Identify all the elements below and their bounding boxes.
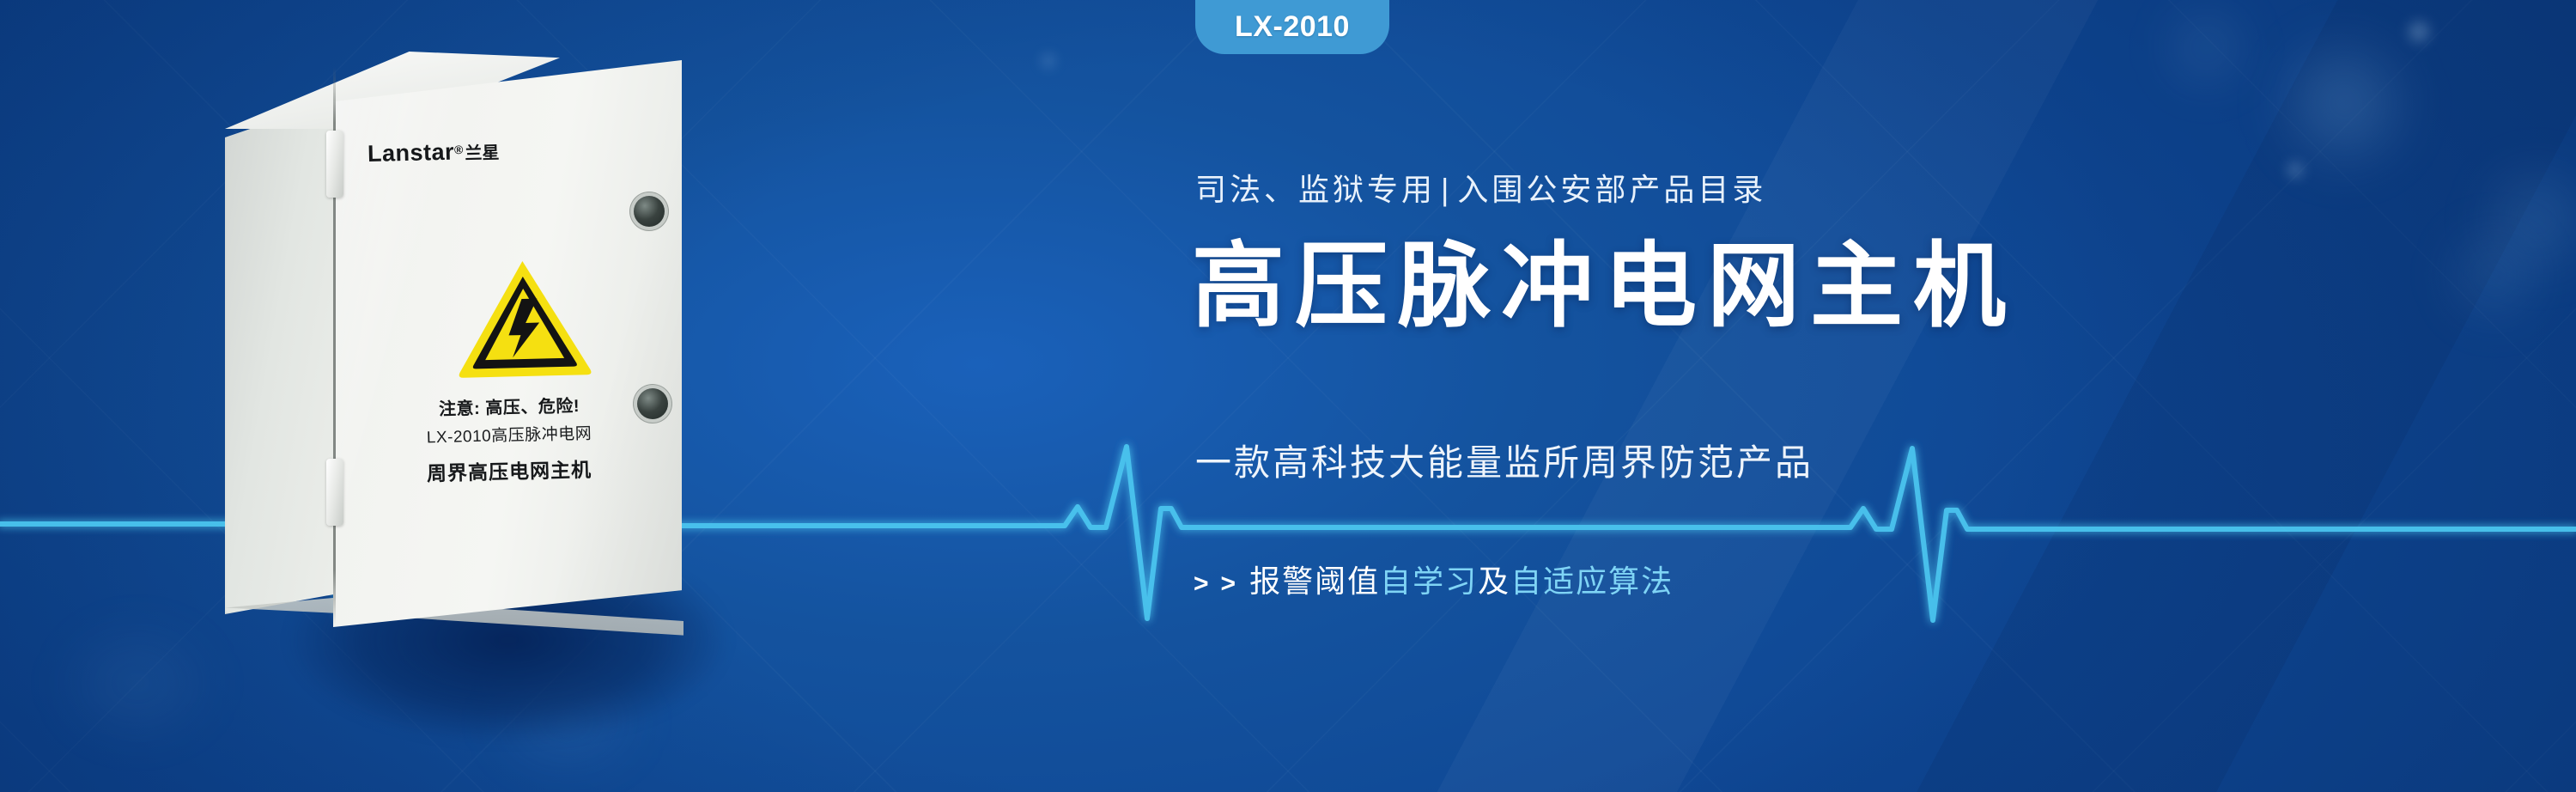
product-hero-banner: Lanstar®兰星 注意: 高压、危险! LX-2010高压脉冲电网 周界高压… <box>0 0 2576 792</box>
product-image: Lanstar®兰星 注意: 高压、危险! LX-2010高压脉冲电网 周界高压… <box>204 52 805 730</box>
chevron-right-icon-2: > <box>1221 570 1236 599</box>
control-cabinet: Lanstar®兰星 注意: 高压、危险! LX-2010高压脉冲电网 周界高压… <box>204 52 805 704</box>
indicator-light-upper <box>634 196 665 227</box>
eyebrow-left-text: 司法、监狱专用 <box>1195 172 1436 207</box>
feature-text-highlight-2: 自适应算法 <box>1510 557 1674 601</box>
cabinet-hinge-top <box>326 131 343 198</box>
eyebrow-right-text: 入围公安部产品目录 <box>1457 172 1766 207</box>
cabinet-hinge-bottom <box>326 459 343 526</box>
banner-copy-block: LX-2010 司法、监狱专用|入围公安部产品目录 高压脉冲电网主机 一款高科技… <box>1195 0 2483 792</box>
high-voltage-warning-icon <box>453 254 593 382</box>
model-badge-label: LX-2010 <box>1235 10 1350 44</box>
cabinet-side-panel <box>225 99 338 614</box>
feature-text-highlight-1: 自学习 <box>1380 557 1478 601</box>
feature-text-part-1: 报警阈值 <box>1249 557 1380 601</box>
registered-icon: ® <box>454 143 464 156</box>
banner-tagline: 一款高科技大能量监所周界防范产品 <box>1195 434 1814 486</box>
banner-eyebrow: 司法、监狱专用|入围公安部产品目录 <box>1195 165 1766 210</box>
brand-name-en: Lanstar <box>368 139 455 167</box>
banner-headline: 高压脉冲电网主机 <box>1192 241 2016 333</box>
copy-divider <box>1195 526 2157 528</box>
model-badge: LX-2010 <box>1195 0 1389 54</box>
chevron-right-icon-1: > <box>1194 570 1209 599</box>
feature-text-part-3: 及 <box>1478 557 1510 601</box>
brand-name-cn: 兰星 <box>465 143 500 163</box>
banner-feature-line: > > 报警阈值自学习及自适应算法 <box>1194 557 1674 601</box>
eyebrow-separator: | <box>1441 172 1452 207</box>
